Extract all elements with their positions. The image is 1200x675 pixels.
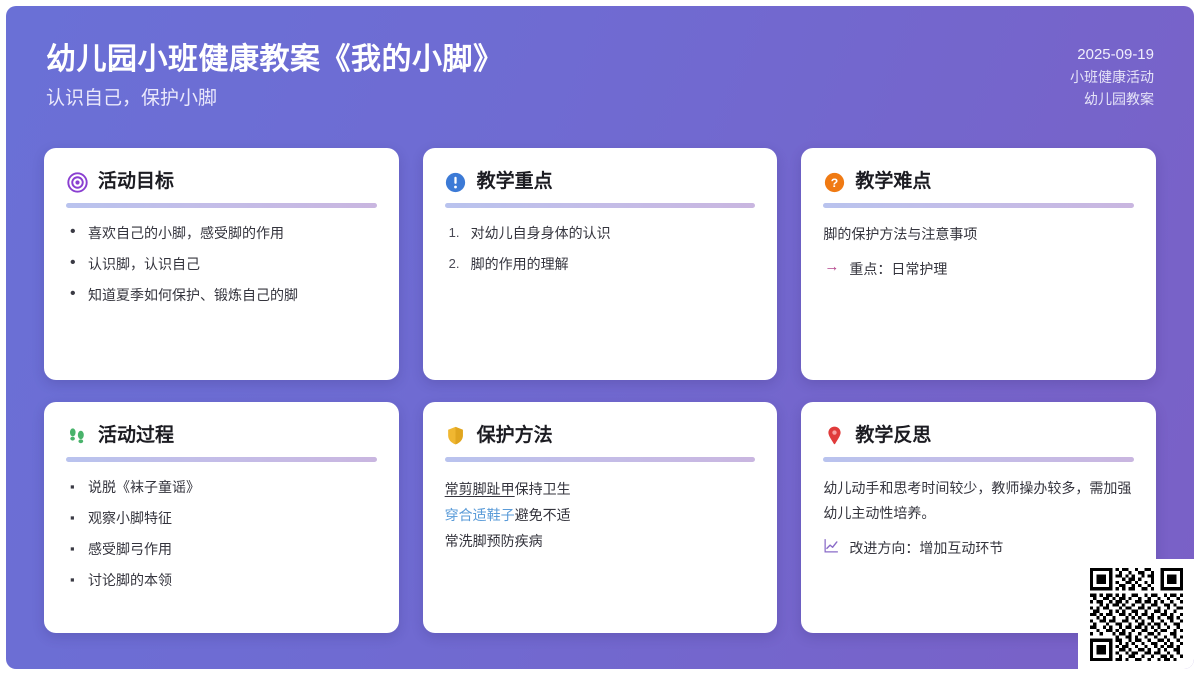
shield-icon bbox=[445, 425, 467, 447]
card-header: 活动过程 bbox=[66, 424, 377, 448]
card-title: 教学反思 bbox=[855, 424, 931, 448]
protection-line: 常剪脚趾甲保持卫生 bbox=[445, 476, 756, 502]
exclamation-icon bbox=[445, 171, 467, 193]
card-title: 保护方法 bbox=[477, 424, 553, 448]
card-divider bbox=[66, 203, 377, 208]
slide-root: 幼儿园小班健康教案《我的小脚》 认识自己，保护小脚 2025-09-19 小班健… bbox=[0, 0, 1200, 675]
card-header: 保护方法 bbox=[445, 424, 756, 448]
footprints-icon bbox=[66, 425, 88, 447]
qr-code-image bbox=[1088, 568, 1185, 661]
note-text: 改进方向：增加互动环节 bbox=[849, 537, 1003, 559]
objectives-list: 喜欢自己的小脚，感受脚的作用 认识脚，认识自己 知道夏季如何保护、锻炼自己的脚 bbox=[66, 222, 377, 306]
protection-line: 常洗脚预防疾病 bbox=[445, 528, 756, 554]
meta-source: 幼儿园教案 bbox=[1070, 88, 1154, 110]
card-body: 喜欢自己的小脚，感受脚的作用 认识脚，认识自己 知道夏季如何保护、锻炼自己的脚 bbox=[66, 222, 377, 306]
list-item: 讨论脚的本领 bbox=[68, 569, 377, 591]
protection-link[interactable]: 穿合适鞋子 bbox=[445, 507, 515, 523]
list-item: 知道夏季如何保护、锻炼自己的脚 bbox=[68, 284, 377, 306]
card-title: 教学难点 bbox=[855, 170, 931, 194]
arrow-right-icon: → bbox=[823, 258, 840, 276]
card-title: 教学重点 bbox=[477, 170, 553, 194]
card-body: 脚的保护方法与注意事项 → 重点：日常护理 bbox=[823, 222, 1134, 280]
card-header: ? 教学难点 bbox=[823, 170, 1134, 194]
reflection-note: 改进方向：增加互动环节 bbox=[823, 537, 1134, 559]
list-item: 感受脚弓作用 bbox=[68, 538, 377, 560]
difficulties-text: 脚的保护方法与注意事项 bbox=[823, 222, 1134, 247]
protection-rest: 常洗脚预防疾病 bbox=[445, 533, 543, 549]
card-difficulties[interactable]: ? 教学难点 脚的保护方法与注意事项 → 重点：日常护理 bbox=[801, 148, 1156, 380]
header-meta: 2025-09-19 小班健康活动 幼儿园教案 bbox=[1070, 44, 1154, 110]
list-item: 喜欢自己的小脚，感受脚的作用 bbox=[68, 222, 377, 244]
protection-emphasis: 常剪脚趾甲 bbox=[445, 481, 515, 497]
line-chart-icon bbox=[823, 537, 840, 555]
meta-category: 小班健康活动 bbox=[1070, 66, 1154, 88]
card-body: 说脱《袜子童谣》 观察小脚特征 感受脚弓作用 讨论脚的本领 bbox=[66, 476, 377, 591]
page-title: 幼儿园小班健康教案《我的小脚》 bbox=[46, 40, 1154, 80]
card-divider bbox=[66, 457, 377, 462]
qr-code[interactable] bbox=[1078, 559, 1194, 669]
card-header: 活动目标 bbox=[66, 170, 377, 194]
card-divider bbox=[445, 457, 756, 462]
list-item: 观察小脚特征 bbox=[68, 507, 377, 529]
card-body: 常剪脚趾甲保持卫生 穿合适鞋子避免不适 常洗脚预防疾病 bbox=[445, 476, 756, 554]
slide-canvas: 幼儿园小班健康教案《我的小脚》 认识自己，保护小脚 2025-09-19 小班健… bbox=[6, 6, 1194, 669]
protection-line: 穿合适鞋子避免不适 bbox=[445, 502, 756, 528]
card-header: 教学重点 bbox=[445, 170, 756, 194]
target-icon bbox=[66, 171, 88, 193]
svg-text:?: ? bbox=[831, 175, 838, 189]
slide-header: 幼儿园小班健康教案《我的小脚》 认识自己，保护小脚 2025-09-19 小班健… bbox=[6, 6, 1194, 136]
reflection-paragraph: 幼儿动手和思考时间较少，教师操办较多，需加强幼儿主动性培养。 bbox=[823, 476, 1134, 526]
difficulties-note: → 重点：日常护理 bbox=[823, 258, 1134, 280]
card-divider bbox=[823, 203, 1134, 208]
protection-rest: 避免不适 bbox=[515, 507, 571, 523]
page-subtitle: 认识自己，保护小脚 bbox=[46, 86, 1154, 112]
card-body: 对幼儿自身身体的认识 脚的作用的理解 bbox=[445, 222, 756, 275]
meta-date: 2025-09-19 bbox=[1070, 44, 1154, 66]
card-grid: 活动目标 喜欢自己的小脚，感受脚的作用 认识脚，认识自己 知道夏季如何保护、锻炼… bbox=[44, 148, 1156, 633]
list-item: 说脱《袜子童谣》 bbox=[68, 476, 377, 498]
card-protection[interactable]: 保护方法 常剪脚趾甲保持卫生 穿合适鞋子避免不适 常洗脚预防疾病 bbox=[423, 402, 778, 634]
card-divider bbox=[823, 457, 1134, 462]
card-title: 活动目标 bbox=[98, 170, 174, 194]
protection-rest: 保持卫生 bbox=[515, 481, 571, 497]
list-item: 认识脚，认识自己 bbox=[68, 253, 377, 275]
card-body: 幼儿动手和思考时间较少，教师操办较多，需加强幼儿主动性培养。 改进方向：增加互动… bbox=[823, 476, 1134, 559]
card-title: 活动过程 bbox=[98, 424, 174, 448]
process-list: 说脱《袜子童谣》 观察小脚特征 感受脚弓作用 讨论脚的本领 bbox=[66, 476, 377, 591]
card-header: 教学反思 bbox=[823, 424, 1134, 448]
list-item: 对幼儿自身身体的认识 bbox=[447, 222, 756, 244]
card-divider bbox=[445, 203, 756, 208]
card-objectives[interactable]: 活动目标 喜欢自己的小脚，感受脚的作用 认识脚，认识自己 知道夏季如何保护、锻炼… bbox=[44, 148, 399, 380]
key-points-list: 对幼儿自身身体的认识 脚的作用的理解 bbox=[445, 222, 756, 275]
question-icon: ? bbox=[823, 171, 845, 193]
location-pin-icon bbox=[823, 425, 845, 447]
note-text: 重点：日常护理 bbox=[849, 258, 947, 280]
list-item: 脚的作用的理解 bbox=[447, 253, 756, 275]
card-process[interactable]: 活动过程 说脱《袜子童谣》 观察小脚特征 感受脚弓作用 讨论脚的本领 bbox=[44, 402, 399, 634]
card-key-points[interactable]: 教学重点 对幼儿自身身体的认识 脚的作用的理解 bbox=[423, 148, 778, 380]
